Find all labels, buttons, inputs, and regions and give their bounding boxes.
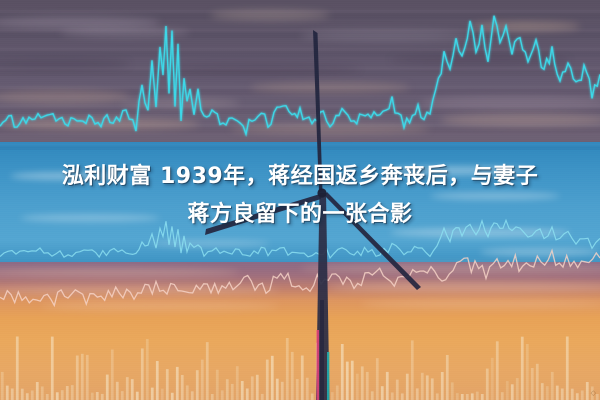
film-grain-overlay (0, 0, 600, 400)
cover-image: 泓利财富 1939年，蒋经国返乡奔丧后，与妻子 蒋方良留下的一张合影 ◇ (0, 0, 600, 400)
corner-mark-icon: ◇ (591, 389, 596, 397)
